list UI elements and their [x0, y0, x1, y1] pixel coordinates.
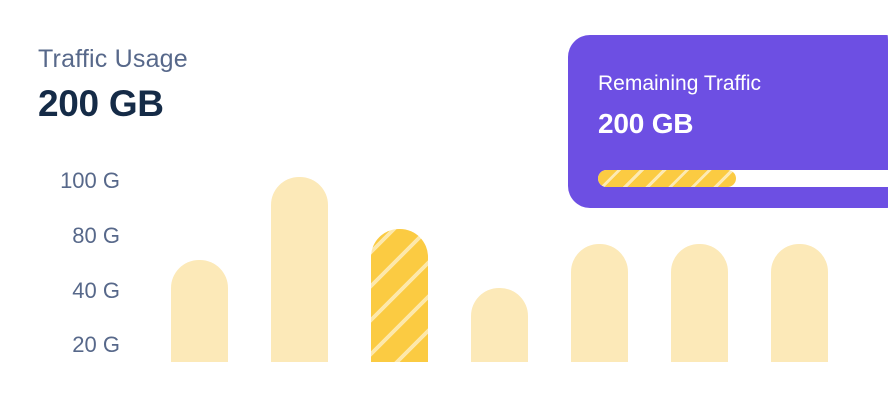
header: Traffic Usage 200 GB	[38, 44, 188, 128]
remaining-traffic-progress-fill	[598, 170, 736, 187]
chart-bar[interactable]	[171, 260, 228, 362]
remaining-traffic-value: 200 GB	[598, 106, 693, 142]
remaining-traffic-label: Remaining Traffic	[598, 71, 761, 97]
page-title: Traffic Usage	[38, 44, 188, 74]
chart-bar[interactable]	[271, 177, 328, 362]
chart-bar[interactable]	[471, 288, 528, 362]
chart-bar[interactable]	[371, 229, 428, 362]
remaining-traffic-card[interactable]: Remaining Traffic 200 GB	[568, 35, 888, 208]
remaining-traffic-progress-track[interactable]	[598, 170, 888, 187]
traffic-usage-widget: 100 G 80 G 40 G 20 G Traffic Usage 200 G…	[0, 0, 888, 400]
chart-bar[interactable]	[671, 244, 728, 362]
chart-bar[interactable]	[771, 244, 828, 362]
traffic-usage-value: 200 GB	[38, 80, 188, 128]
chart-bar[interactable]	[571, 244, 628, 362]
